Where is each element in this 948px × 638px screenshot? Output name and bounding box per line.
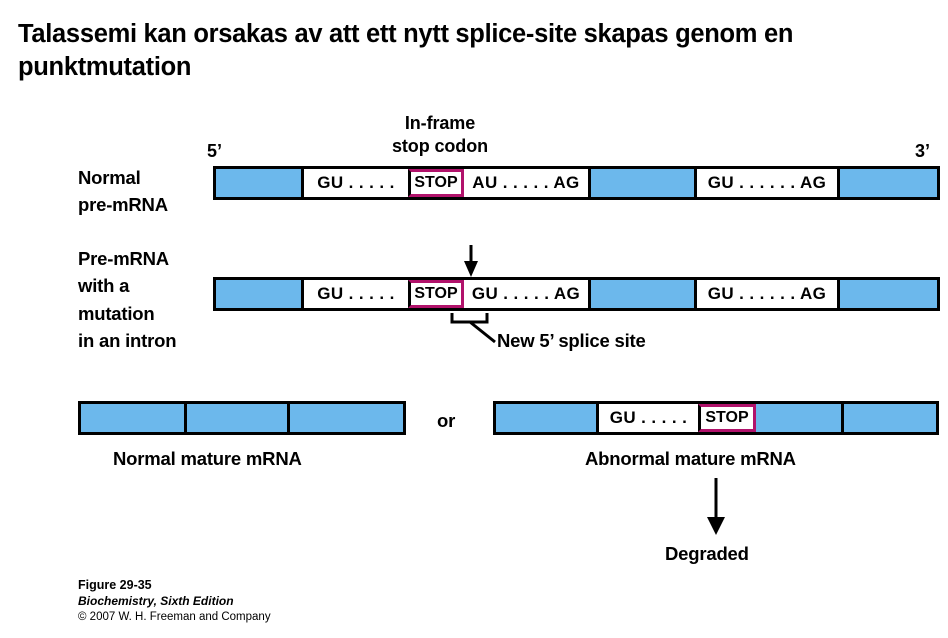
exon-segment xyxy=(216,280,301,308)
mutant-premrna-label-line1: Pre-mRNA xyxy=(78,245,176,272)
intron-segment: GU . . . . . xyxy=(301,280,408,308)
new-splice-site-label: New 5’ splice site xyxy=(497,330,646,352)
abnormal-mature-mrna-label: Abnormal mature mRNA xyxy=(585,448,796,470)
in-frame-stop-codon-line2: stop codon xyxy=(360,135,520,158)
intron-segment: GU . . . . . xyxy=(301,169,408,197)
book-title: Biochemistry, Sixth Edition xyxy=(78,594,271,610)
new-splice-site-bracket-icon xyxy=(452,313,495,342)
exon-segment xyxy=(841,404,936,432)
normal-premrna-strand: GU . . . . .STOPAU . . . . . AGGU . . . … xyxy=(213,166,940,200)
normal-premrna-label-line1: Normal xyxy=(78,164,168,191)
three-prime-marker: 3’ xyxy=(915,141,930,162)
degraded-arrow-icon xyxy=(707,478,725,535)
mutant-premrna-strand: GU . . . . .STOPGU . . . . . AGGU . . . … xyxy=(213,277,940,311)
five-prime-marker: 5’ xyxy=(207,141,222,162)
intron-segment: GU . . . . . . AG xyxy=(694,169,837,197)
mutant-premrna-label-line2: with a xyxy=(78,272,176,299)
intron-segment: GU . . . . . . AG xyxy=(694,280,837,308)
normal-mature-mrna-label: Normal mature mRNA xyxy=(113,448,302,470)
exon-segment xyxy=(496,404,596,432)
exon-segment xyxy=(837,280,937,308)
in-frame-stop-codon-line1: In-frame xyxy=(360,112,520,135)
mutant-premrna-label-line4: in an intron xyxy=(78,327,176,354)
or-separator-label: or xyxy=(437,410,455,432)
normal-premrna-row-label: Normal pre-mRNA xyxy=(78,164,168,219)
exon-segment xyxy=(588,169,694,197)
intron-segment: GU . . . . . AG xyxy=(464,280,588,308)
figure-number: Figure 29-35 xyxy=(78,577,271,594)
page-title: Talassemi kan orsakas av att ett nytt sp… xyxy=(18,18,918,84)
copyright-notice: © 2007 W. H. Freeman and Company xyxy=(78,610,271,625)
mutation-arrow-icon xyxy=(464,245,478,277)
mutant-premrna-row-label: Pre-mRNA with a mutation in an intron xyxy=(78,245,176,355)
exon-segment xyxy=(184,404,287,432)
exon-segment xyxy=(837,169,937,197)
stop-codon-segment: STOP xyxy=(698,404,756,432)
exon-segment xyxy=(588,280,694,308)
abnormal-mature-mrna-strand: GU . . . . .STOP xyxy=(493,401,939,435)
exon-segment xyxy=(756,404,841,432)
exon-segment xyxy=(81,404,184,432)
intron-segment: AU . . . . . AG xyxy=(464,169,588,197)
normal-premrna-label-line2: pre-mRNA xyxy=(78,191,168,218)
mutant-premrna-label-line3: mutation xyxy=(78,300,176,327)
stop-codon-segment: STOP xyxy=(408,169,464,197)
exon-segment xyxy=(216,169,301,197)
stop-codon-segment: STOP xyxy=(408,280,464,308)
exon-segment xyxy=(287,404,403,432)
degraded-label: Degraded xyxy=(665,543,749,565)
intron-segment: GU . . . . . xyxy=(596,404,698,432)
figure-credit: Figure 29-35 Biochemistry, Sixth Edition… xyxy=(78,577,271,625)
in-frame-stop-codon-label: In-frame stop codon xyxy=(360,112,520,157)
normal-mature-mrna-strand xyxy=(78,401,406,435)
